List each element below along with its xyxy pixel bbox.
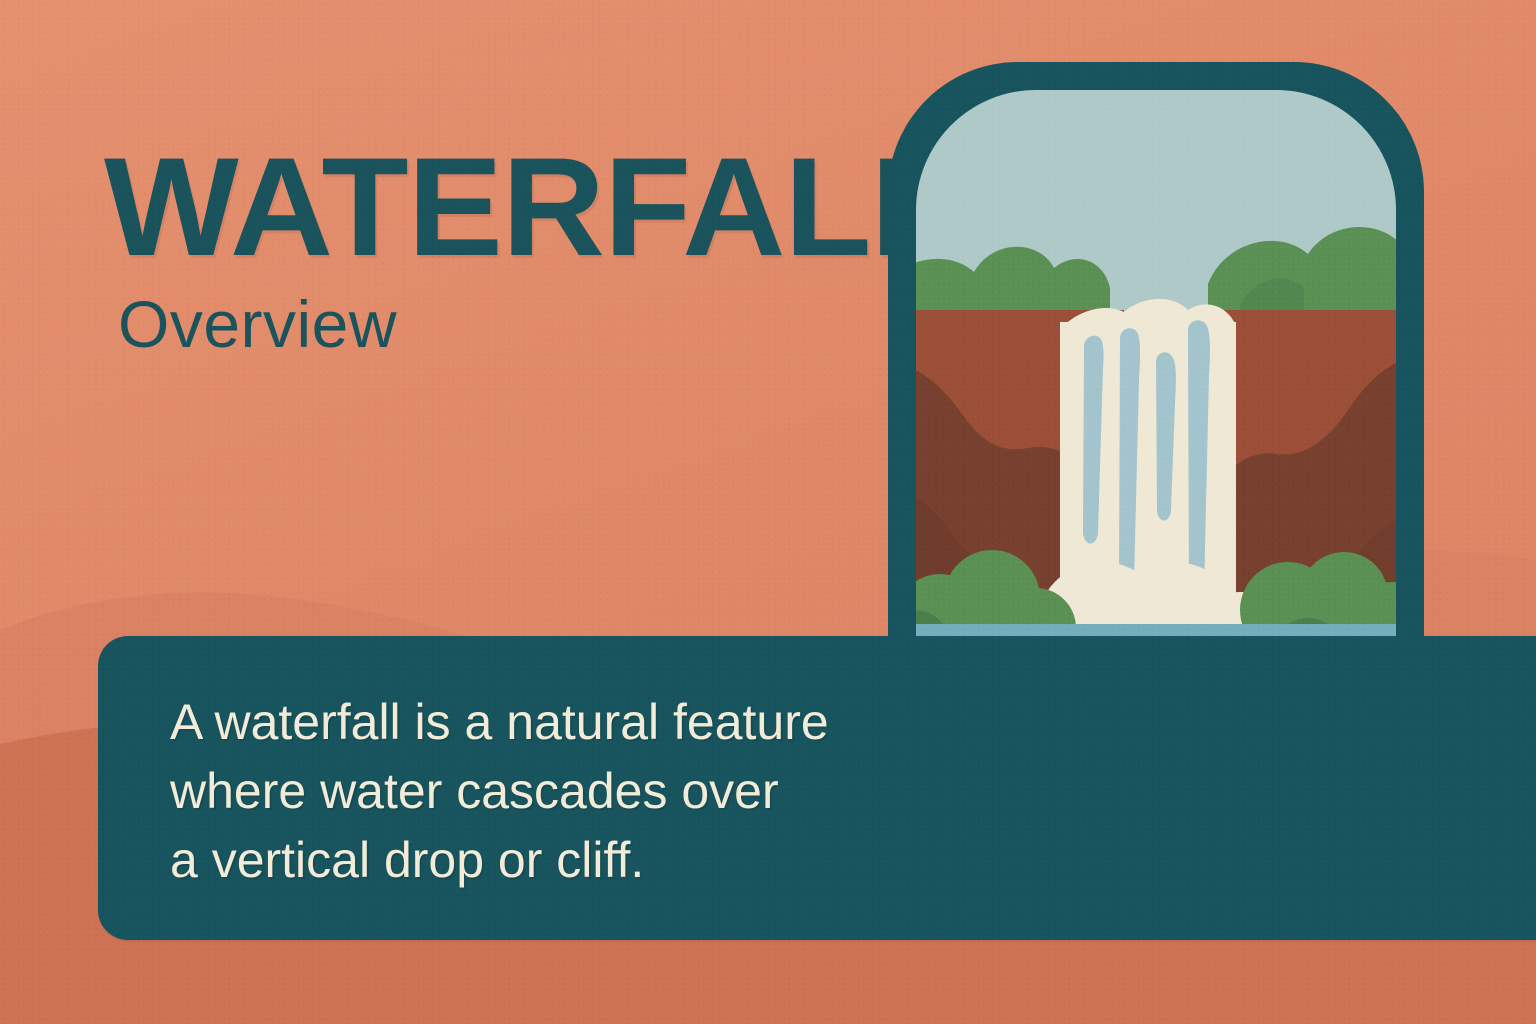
- page-subtitle: Overview: [118, 291, 904, 357]
- description-panel: A waterfall is a natural feature where w…: [98, 636, 1536, 940]
- headline-block: WATERFALL Overview: [104, 140, 904, 357]
- description-text: A waterfall is a natural feature where w…: [170, 688, 930, 895]
- page-title: WATERFALL: [104, 140, 920, 273]
- poster-canvas: WATERFALL Overview: [0, 0, 1536, 1024]
